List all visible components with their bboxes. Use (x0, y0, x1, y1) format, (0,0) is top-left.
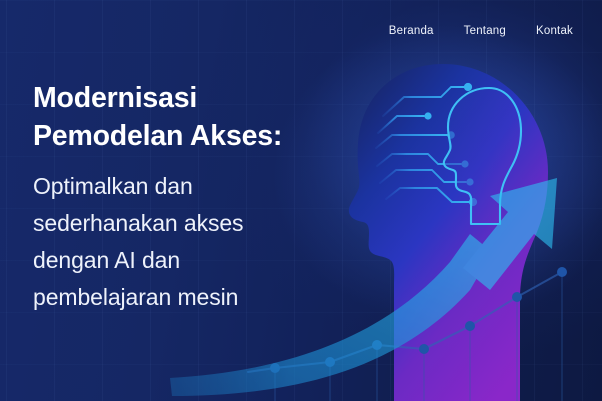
hero-subheadline: Optimalkan dan sederhanakan akses dengan… (33, 168, 363, 316)
hero-section: Beranda Tentang Kontak Modernisasi Pemod… (0, 0, 602, 401)
nav-item-tentang[interactable]: Tentang (464, 25, 506, 37)
nav-item-beranda[interactable]: Beranda (389, 25, 434, 37)
primary-navigation[interactable]: Beranda Tentang Kontak (389, 0, 602, 62)
nav-item-kontak[interactable]: Kontak (536, 25, 573, 37)
hero-copy: Modernisasi Pemodelan Akses: Optimalkan … (33, 80, 363, 316)
hero-headline: Modernisasi Pemodelan Akses: (33, 80, 363, 156)
